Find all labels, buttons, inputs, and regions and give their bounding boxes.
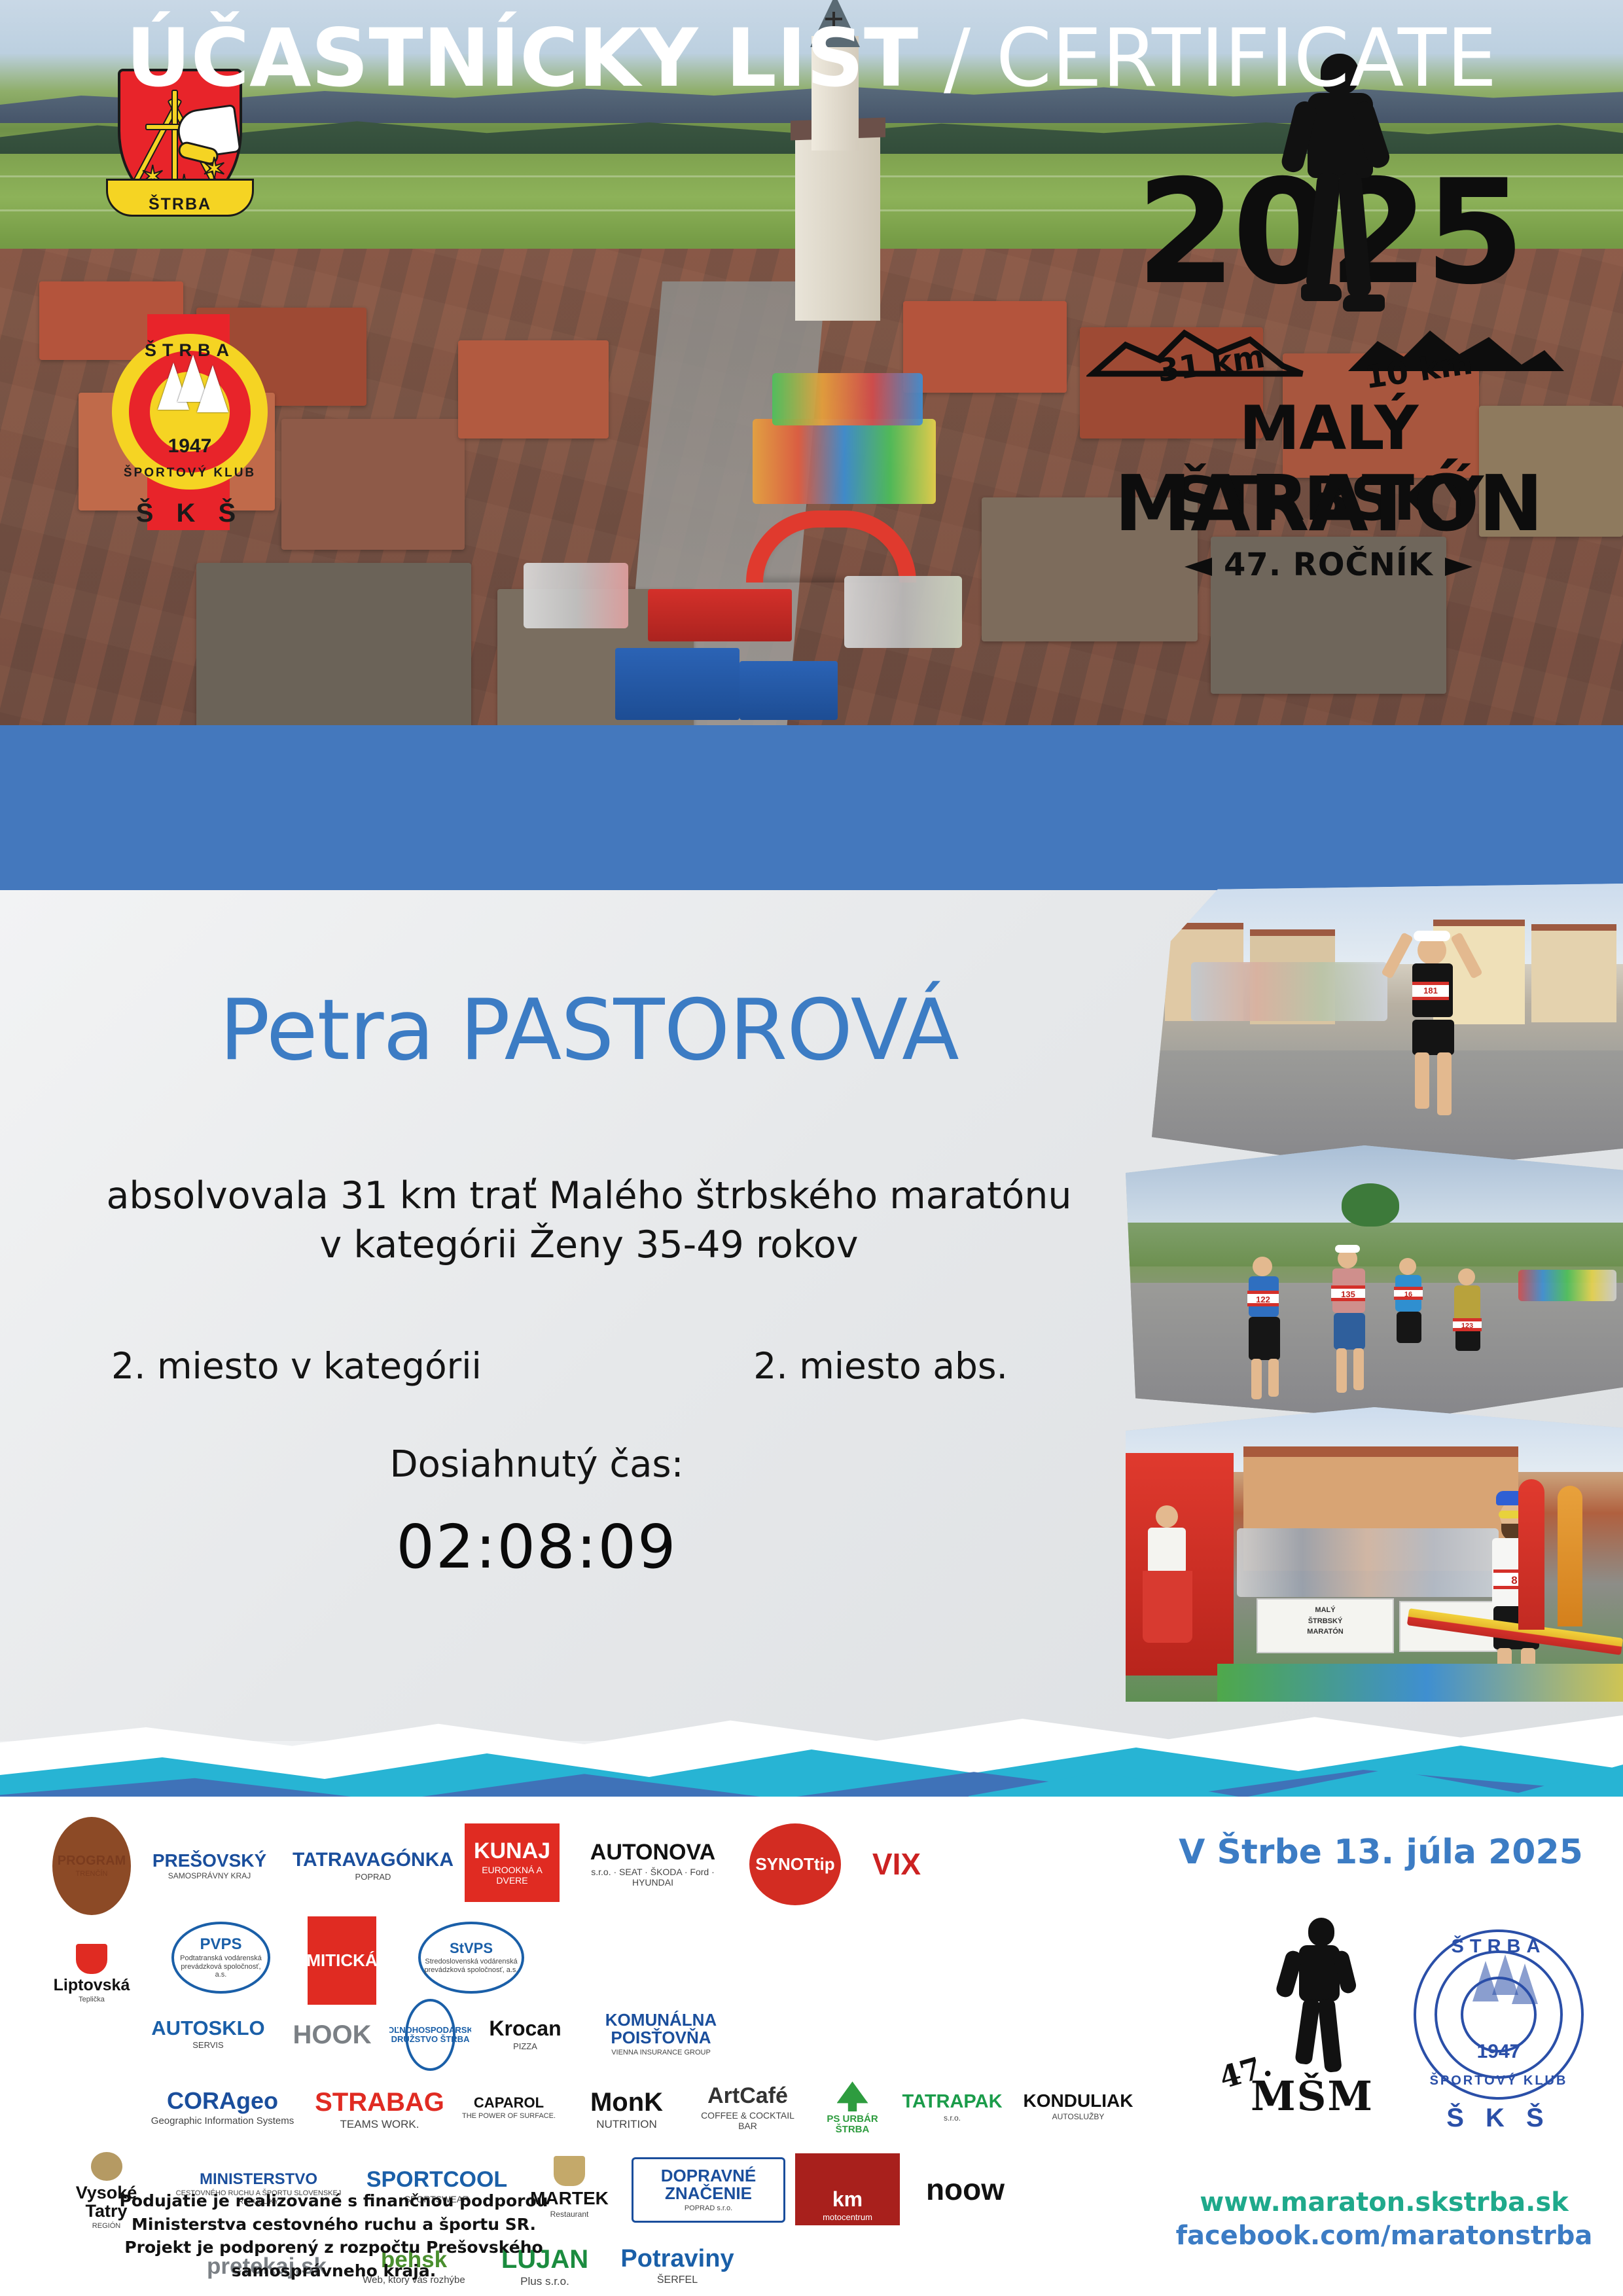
club-top-arc-label: ŠTRBA xyxy=(101,340,278,361)
sponsor-logo-inner: PREŠOVSKÝSAMOSPRÁVNY KRAJ xyxy=(141,1823,278,1909)
event-edition-label: 47. ROČNÍK xyxy=(1224,547,1433,583)
sponsor-logo-inner: KOMUNÁLNA POISŤOVŇAVIENNA INSURANCE GROU… xyxy=(579,2001,743,2067)
banner-title-sk: ÚČASTNÍCKY LIST xyxy=(126,12,919,105)
sponsor-logo: VIX xyxy=(851,1823,942,1905)
sponsor-subtitle: s.r.o. · SEAT · ŠKODA · Ford · HYUNDAI xyxy=(569,1867,736,1888)
sponsor-name: km xyxy=(830,2189,865,2211)
sponsor-logo: TATRAVAGÓNKAPOPRAD xyxy=(291,1830,455,1902)
church-building xyxy=(795,131,880,321)
sponsor-logo: AUTOSKLOSERVIS xyxy=(143,2001,274,2067)
runner-shorts xyxy=(1412,1020,1454,1055)
sponsor-logo-inner: StVPSStredoslovenská vodárenská prevádzk… xyxy=(418,1922,524,1994)
event-title-line2: MARATÓN xyxy=(1086,458,1571,548)
sponsor-logo: STRABAGTEAMS WORK. xyxy=(314,2077,445,2142)
sponsor-logo: KONDULIAKAUTOSLUŽBY xyxy=(1014,2072,1142,2141)
folk-costume-girl xyxy=(1126,1505,1224,1702)
sponsor-subtitle: motocentrum xyxy=(820,2213,875,2223)
sponsor-subtitle: TRENČÍN xyxy=(73,1870,111,1878)
sponsor-subtitle: SERVIS xyxy=(190,2041,226,2051)
runner-top xyxy=(1454,1285,1480,1322)
sponsor-logo-grid: PROGRAMTRENČÍNPREŠOVSKÝSAMOSPRÁVNY KRAJT… xyxy=(46,1812,1145,2217)
rooftop xyxy=(281,419,465,550)
stamp-year-label: 1947 xyxy=(1400,2041,1597,2063)
sponsor-name: MonK xyxy=(588,2089,666,2116)
runner-leg-right xyxy=(1317,1998,1342,2073)
tree-mark-icon xyxy=(837,2081,868,2111)
sponsor-subtitle: AUTOSLUŽBY xyxy=(1050,2113,1107,2122)
runner-leg-left xyxy=(1336,1348,1347,1393)
sponsor-subtitle: s.r.o. xyxy=(941,2114,963,2123)
sponsor-subtitle: Geographic Information Systems xyxy=(149,2115,296,2126)
name-ribbon: ŠTRBA xyxy=(106,179,254,217)
sponsor-name: MINISTERSTVO xyxy=(197,2171,320,2187)
runner-head xyxy=(1308,1918,1334,1946)
sponsor-subtitle: TEAMS WORK. xyxy=(338,2118,422,2131)
sponsor-logo-inner: noow xyxy=(913,2153,1018,2225)
participant-name: Petra PASTOROVÁ xyxy=(79,982,1099,1079)
description-line1: absolvovala 31 km trať Malého štrbského … xyxy=(79,1172,1099,1221)
sponsor-name: DOPRAVNÉ ZNAČENIE xyxy=(633,2167,783,2203)
photo-runners-hillside: 122 135 16 123 xyxy=(1126,1145,1623,1420)
distant-runners xyxy=(1518,1270,1616,1301)
finish-mat xyxy=(1217,1664,1623,1702)
place-category: 2. miesto v kategórii xyxy=(111,1345,482,1387)
moto-mark-icon xyxy=(832,2156,863,2186)
runner-shoe-left xyxy=(1301,284,1342,301)
stamp-bottom-arc-label: ŠPORTOVÝ KLUB xyxy=(1400,2073,1597,2089)
sponsor-logo-inner: TATRAPAKs.r.o. xyxy=(897,2075,1008,2140)
sponsor-logo-inner: TATRAVAGÓNKAPOPRAD xyxy=(291,1830,455,1902)
house xyxy=(1531,924,1616,1022)
event-edition-row: 47. ROČNÍK xyxy=(1086,547,1571,583)
sponsor-logo-inner: KONDULIAKAUTOSLUŽBY xyxy=(1014,2072,1142,2141)
runner-leg-right xyxy=(1353,1348,1364,1390)
edel-mark-icon xyxy=(91,2152,122,2181)
sponsor-subtitle: Podtatranská vodárenská prevádzková spol… xyxy=(174,1954,268,1979)
sponsor-logo: PROGRAMTRENČÍN xyxy=(52,1817,131,1915)
sponsor-subtitle: POPRAD xyxy=(353,1873,394,1882)
disclaimer-line2: Ministerstva cestovného ruchu a športu S… xyxy=(65,2213,602,2236)
place-absolute: 2. miesto abs. xyxy=(753,1345,1008,1387)
sponsor-logo-inner: LiptovskáTeplička xyxy=(52,1920,131,2028)
sponsor-subtitle: Teplička xyxy=(76,1996,107,2004)
sponsor-subtitle: POPRAD s.r.o. xyxy=(682,2204,735,2213)
sponsor-logo: PS URBÁR ŠTRBA xyxy=(811,2072,893,2144)
runner-leg-right xyxy=(1437,1052,1452,1115)
sponsor-flag xyxy=(1518,1479,1544,1630)
sponsor-name: StVPS xyxy=(447,1941,495,1956)
sponsor-name: SPORTCOOL xyxy=(366,2168,507,2192)
sponsor-logo-inner: ArtCaféCOFFEE & COCKTAIL BAR xyxy=(690,2073,805,2142)
sponsor-logo-inner: HOOK xyxy=(285,2000,380,2069)
certificate-page: ✶ ✶ ✶ ŠTRBA ŠTRBA 1947 ŠPORTOVÝ KLUB Š K… xyxy=(0,0,1623,2296)
sponsor-name: ArtCafé xyxy=(705,2085,791,2108)
sponsor-name: Liptovská xyxy=(52,1977,131,1994)
sponsor-name: PREŠOVSKÝ xyxy=(150,1851,269,1870)
girl-head xyxy=(1156,1505,1178,1528)
sponsor-logo: kmmotocentrum xyxy=(795,2153,900,2225)
runner-crowd xyxy=(772,373,923,425)
visor-cap-icon xyxy=(1414,931,1450,941)
contact-links: www.maraton.skstrba.sk facebook.com/mara… xyxy=(1171,2186,1597,2253)
sponsor-logo: POĽNOHOSPODÁRSKE DRUŽSTVO ŠTRBA xyxy=(389,1999,471,2071)
runner-shorts xyxy=(1397,1312,1421,1343)
stamp-top-arc-label: ŠTRBA xyxy=(1400,1936,1597,1958)
sponsor-logo-inner: KUNAJEUROOKNÁ A DVERE xyxy=(465,1823,560,1902)
placement-row: 2. miesto v kategórii 2. miesto abs. xyxy=(79,1345,1099,1397)
sponsor-logo-inner: AUTOSKLOSERVIS xyxy=(143,2001,274,2067)
arrow-right-icon xyxy=(1445,558,1472,576)
sponsor-logo-inner: DOPRAVNÉ ZNAČENIEPOPRAD s.r.o. xyxy=(632,2157,785,2223)
sponsor-name: KUNAJ xyxy=(471,1840,553,1863)
sponsor-name: Krocan xyxy=(486,2018,563,2040)
girl-blouse xyxy=(1148,1528,1186,1573)
sponsor-logo-inner: MonKNUTRITION xyxy=(569,2077,684,2142)
sponsor-logo: PVPSPodtatranská vodárenská prevádzková … xyxy=(141,1922,301,1994)
red-tent xyxy=(648,589,792,641)
sponsor-logo: StVPSStredoslovenská vodárenská prevádzk… xyxy=(386,1922,556,1994)
sponsor-logo: KUNAJEUROOKNÁ A DVERE xyxy=(465,1823,560,1902)
runner-head xyxy=(1253,1257,1272,1276)
girl-skirt xyxy=(1143,1571,1192,1643)
runner-head xyxy=(1458,1268,1475,1285)
sponsor-logo-inner: VIX xyxy=(851,1823,942,1905)
funding-disclaimer: Podujatie je realizované s finančnou pod… xyxy=(65,2189,602,2282)
sponsor-logo: KrocanPIZZA xyxy=(481,1999,569,2071)
sponsor-logo-inner: AUTONOVAs.r.o. · SEAT · ŠKODA · Ford · H… xyxy=(569,1823,736,1905)
msm-abbrev-label: MŠM xyxy=(1214,2072,1410,2120)
sponsor-logo: MonKNUTRITION xyxy=(569,2077,684,2142)
sponsor-name: MITICKÁ xyxy=(308,1952,376,1969)
sponsor-logo: LiptovskáTeplička xyxy=(52,1920,131,2028)
runner-leg-right xyxy=(1268,1359,1279,1397)
sponsor-name: PS URBÁR ŠTRBA xyxy=(811,2114,893,2135)
event-date: V Štrbe 13. júla 2025 xyxy=(1165,1833,1597,1872)
sponsor-flag xyxy=(1558,1486,1582,1626)
certificate-description: absolvovala 31 km trať Malého štrbského … xyxy=(79,1172,1099,1270)
sponsor-name: KOMUNÁLNA POISŤOVŇA xyxy=(579,2011,743,2047)
arrow-left-icon xyxy=(1185,558,1212,576)
runner-leg-left xyxy=(1294,1998,1321,2066)
sponsor-logo-inner: SYNOTtip xyxy=(749,1823,841,1905)
sponsor-logo: AUTONOVAs.r.o. · SEAT · ŠKODA · Ford · H… xyxy=(569,1823,736,1905)
time-label: Dosiahnutý čas: xyxy=(79,1443,995,1486)
sponsor-logo-inner: PotravinyŠERFEL xyxy=(612,2234,743,2296)
sponsor-subtitle: VIENNA INSURANCE GROUP xyxy=(609,2049,713,2057)
blue-tent xyxy=(740,661,838,720)
sponsor-logo-inner: MITICKÁ xyxy=(308,1916,376,2005)
runner-figure: 123 xyxy=(1446,1268,1492,1393)
sponsor-subtitle: SAMOSPRÁVNY KRAJ xyxy=(166,1872,253,1881)
sponsor-logo-inner: kmmotocentrum xyxy=(795,2153,900,2225)
female-runner-figure: 181 xyxy=(1387,923,1479,1119)
spectator-crowd xyxy=(844,576,962,648)
runner-figure: 122 xyxy=(1237,1257,1296,1407)
runner-shorts xyxy=(1334,1313,1365,1350)
sponsor-name: noow xyxy=(923,2174,1007,2205)
runner-figure: 16 xyxy=(1387,1258,1433,1389)
runner-leg-left xyxy=(1415,1052,1429,1109)
photo-collage: 181 122 135 xyxy=(1113,884,1623,1715)
sponsor-name: PVPS xyxy=(197,1936,244,1952)
disclaimer-line3: Projekt je podporený z rozpočtu Prešovsk… xyxy=(65,2236,602,2282)
sponsor-logo: CAPAROLTHE POWER OF SURFACE. xyxy=(455,2073,563,2142)
sponsor-name: Potraviny xyxy=(618,2246,736,2272)
spectator-crowd xyxy=(524,563,628,628)
sponsor-logo: TATRAPAKs.r.o. xyxy=(897,2075,1008,2140)
fork-mark-icon xyxy=(554,2156,585,2186)
sponsor-logo: DOPRAVNÉ ZNAČENIEPOPRAD s.r.o. xyxy=(632,2157,785,2223)
banner-line1: MALÝ xyxy=(1258,1605,1393,1616)
rooftop xyxy=(903,301,1067,393)
bib-number: 122 xyxy=(1247,1291,1279,1306)
sponsor-subtitle: COFFEE & COCKTAIL BAR xyxy=(690,2110,805,2131)
mountain-peak-icon xyxy=(1512,1964,1538,2004)
finish-line-banner: MALÝ ŠTRBSKÝ MARATÓN xyxy=(1257,1598,1394,1653)
sponsor-name: TATRAPAK xyxy=(899,2092,1005,2111)
sponsor-logo: CORAgeoGeographic Information Systems xyxy=(141,2073,304,2142)
cap-icon xyxy=(1335,1245,1360,1253)
sponsor-logo-inner: PROGRAMTRENČÍN xyxy=(52,1817,131,1915)
sponsor-subtitle: THE POWER OF SURFACE. xyxy=(459,2112,558,2121)
sponsor-name: PROGRAM xyxy=(55,1854,128,1868)
sponsor-logo: HOOK xyxy=(285,2000,380,2069)
bib-number: 123 xyxy=(1453,1318,1482,1331)
runner-head xyxy=(1399,1258,1416,1275)
bib-number: 181 xyxy=(1412,982,1449,1000)
sponsor-name: AUTOSKLO xyxy=(149,2018,267,2039)
disclaimer-line1: Podujatie je realizované s finančnou pod… xyxy=(65,2189,602,2213)
website-link[interactable]: www.maraton.skstrba.sk xyxy=(1171,2186,1597,2219)
photo-female-finisher: 181 xyxy=(1152,884,1623,1172)
sponsor-logo-inner: PVPSPodtatranská vodárenská prevádzková … xyxy=(171,1922,271,1994)
sponsor-logo: KOMUNÁLNA POISŤOVŇAVIENNA INSURANCE GROU… xyxy=(579,2001,743,2067)
sponsor-logo: PotravinyŠERFEL xyxy=(612,2234,743,2296)
description-line2: v kategórii Ženy 35-49 rokov xyxy=(79,1221,1099,1270)
coa-label: ŠTRBA xyxy=(108,195,252,214)
sponsor-logo-inner: STRABAGTEAMS WORK. xyxy=(314,2077,445,2142)
runner-crowd xyxy=(753,419,936,504)
blue-tent xyxy=(615,648,740,720)
sponsor-name: AUTONOVA xyxy=(588,1841,718,1865)
mountain-peak-icon xyxy=(197,365,228,412)
banner-separator: / xyxy=(918,12,996,105)
sponsor-name: TATRAVAGÓNKA xyxy=(291,1850,455,1871)
bib-number: 135 xyxy=(1331,1285,1365,1301)
rooftop xyxy=(196,563,471,733)
sks-stamp: ŠTRBA 1947 ŠPORTOVÝ KLUB Š K Š xyxy=(1400,1918,1597,2140)
sponsor-subtitle: PIZZA xyxy=(510,2042,540,2052)
runner-arm-right xyxy=(1450,932,1483,979)
sponsor-logo-inner: CORAgeoGeographic Information Systems xyxy=(141,2073,304,2142)
sponsor-name: STRABAG xyxy=(314,2089,445,2116)
sponsor-logo: MITICKÁ xyxy=(308,1916,376,2005)
sponsor-name: SYNOTtip xyxy=(753,1856,837,1873)
sponsor-subtitle: Stredoslovenská vodárenská prevádzková s… xyxy=(421,1958,521,1974)
sponsor-logo: SYNOTtip xyxy=(749,1823,841,1905)
sponsor-logo: noow xyxy=(913,2153,1018,2225)
sponsor-name: VIX xyxy=(870,1848,923,1880)
rooftop xyxy=(458,340,609,439)
runner-leg-left xyxy=(1251,1359,1262,1399)
tree-icon xyxy=(1342,1183,1399,1227)
club-bottom-arc-label: ŠPORTOVÝ KLUB xyxy=(101,466,278,480)
sponsor-logo: ArtCaféCOFFEE & COCKTAIL BAR xyxy=(690,2073,805,2142)
runner-leg-left xyxy=(1306,172,1342,292)
event-logo: 2025 31 km 10 km MALÝ ŠTRBSKÝ MARATÓN 47… xyxy=(1086,39,1571,615)
sponsor-name: KONDULIAK xyxy=(1021,2091,1136,2110)
photo-male-winner-finish: MALÝ ŠTRBSKÝ MARATÓN 8 xyxy=(1126,1407,1623,1702)
club-abbrev-label: Š K Š xyxy=(101,499,278,528)
sponsor-name: HOOK xyxy=(291,2021,374,2049)
banner-line3: MARATÓN xyxy=(1258,1626,1393,1638)
sponsor-subtitle: NUTRITION xyxy=(594,2118,660,2131)
facebook-link[interactable]: facebook.com/maratonstrba xyxy=(1171,2219,1597,2253)
spectator-crowd xyxy=(1237,1528,1499,1597)
runner-figure: 135 xyxy=(1322,1249,1381,1409)
runner-shorts xyxy=(1249,1317,1280,1360)
sponsor-logo-inner: CAPAROLTHE POWER OF SURFACE. xyxy=(455,2073,563,2142)
sponsor-subtitle: ŠERFEL xyxy=(654,2274,700,2286)
spectator-crowd xyxy=(1191,962,1387,1021)
sponsor-name: POĽNOHOSPODÁRSKE DRUŽSTVO ŠTRBA xyxy=(389,2026,471,2043)
bib-number: 16 xyxy=(1394,1287,1423,1300)
sponsor-logo-inner: KrocanPIZZA xyxy=(481,1999,569,2071)
sponsor-name: CAPAROL xyxy=(471,2095,546,2110)
stamp-abbrev-label: Š K Š xyxy=(1400,2104,1597,2133)
crest-mark-icon xyxy=(76,1944,107,1974)
runner-shoe-right xyxy=(1343,295,1385,312)
sponsor-name: CORAgeo xyxy=(164,2089,281,2113)
sks-club-logo: ŠTRBA 1947 ŠPORTOVÝ KLUB Š K Š xyxy=(101,314,278,530)
club-year-label: 1947 xyxy=(101,435,278,457)
banner-line2: ŠTRBSKÝ xyxy=(1258,1616,1393,1627)
sponsor-subtitle: EUROOKNÁ A DVERE xyxy=(465,1865,560,1886)
sponsor-logo-inner: PS URBÁR ŠTRBA xyxy=(811,2072,893,2144)
runner-silhouette-icon xyxy=(1279,1918,1364,2081)
msm-logo: 47. MŠM xyxy=(1214,1918,1410,2140)
banner-title-en: CERTIFICATE xyxy=(996,12,1497,105)
sponsor-logo-inner: POĽNOHOSPODÁRSKE DRUŽSTVO ŠTRBA xyxy=(405,1999,456,2071)
time-value: 02:08:09 xyxy=(79,1512,995,1582)
runner-leg-right xyxy=(1338,172,1372,298)
banner-title: ÚČASTNÍCKY LIST / CERTIFICATE xyxy=(0,16,1623,100)
sponsor-logo: PREŠOVSKÝSAMOSPRÁVNY KRAJ xyxy=(141,1823,278,1909)
runner-torso xyxy=(1299,1945,1340,2001)
